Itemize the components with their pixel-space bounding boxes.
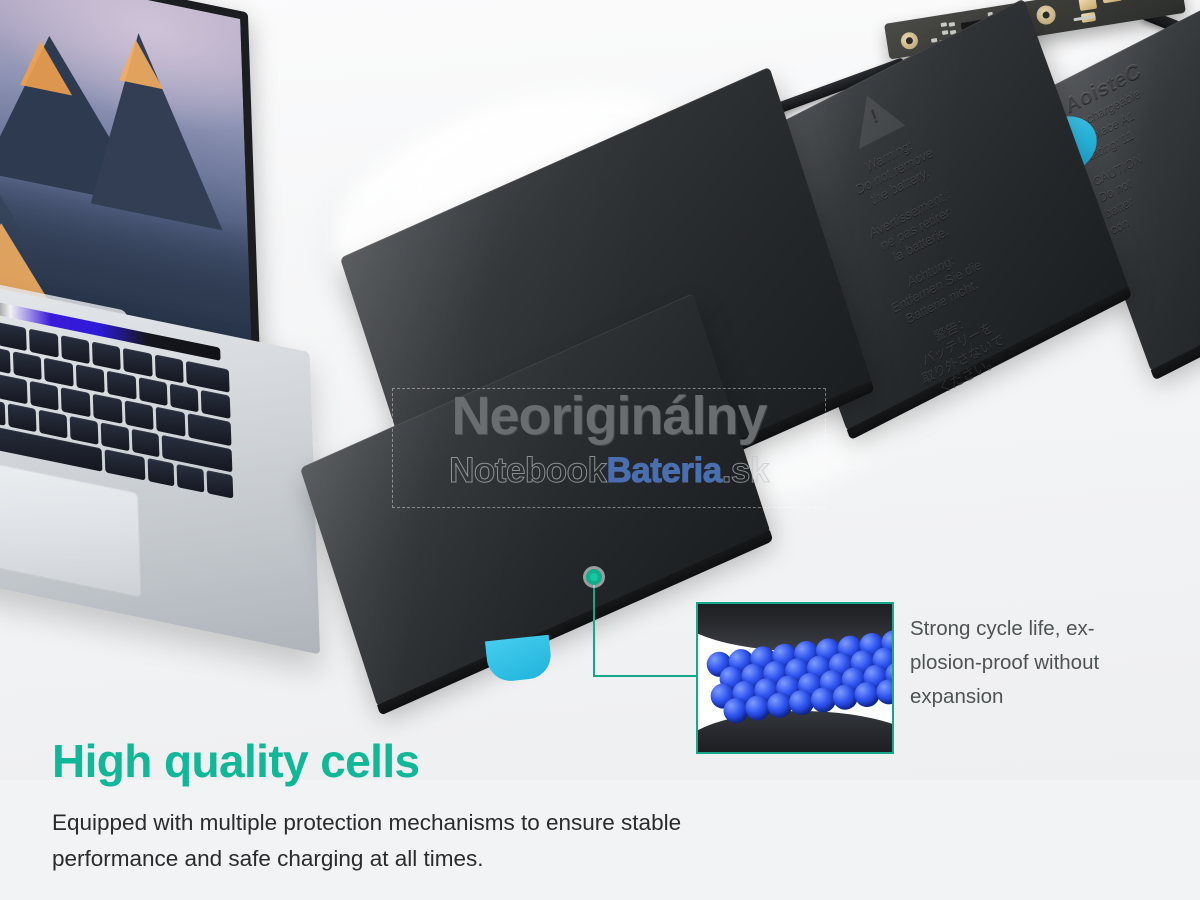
cell-detail-inset xyxy=(696,602,894,754)
caption-line-1: Strong cycle life, ex- xyxy=(910,612,1186,646)
section-headline: High quality cells xyxy=(52,738,420,784)
caption-line-2: plosion-proof without xyxy=(910,646,1186,680)
subcopy-line-1: Equipped with multiple protection mechan… xyxy=(52,805,912,841)
watermark-site-suffix: .sk xyxy=(722,451,769,490)
adhesive-pull-tab xyxy=(485,635,553,683)
watermark-site-brand: Bateria xyxy=(607,451,722,490)
caption-line-3: expansion xyxy=(910,680,1186,714)
callout-line-horizontal xyxy=(593,675,699,677)
product-photo: Images Modèles Téléchargements Vidéos xyxy=(0,0,1200,780)
subcopy-line-2: performance and safe charging at all tim… xyxy=(52,841,912,877)
watermark-site-prefix: Notebook xyxy=(449,451,606,490)
watermark-site: NotebookBateria.sk xyxy=(449,451,769,491)
macbook-pro: Images Modèles Téléchargements Vidéos xyxy=(0,0,385,670)
section-subcopy: Equipped with multiple protection mechan… xyxy=(52,805,912,877)
callout-line-vertical xyxy=(593,585,595,677)
product-banner: Images Modèles Téléchargements Vidéos xyxy=(0,0,1200,900)
callout-marker-dot[interactable] xyxy=(586,569,602,585)
feature-caption: Strong cycle life, ex- plosion-proof wit… xyxy=(910,612,1186,714)
watermark-title: Neoriginálny xyxy=(451,385,766,447)
watermark: Neoriginálny NotebookBateria.sk xyxy=(392,388,826,508)
